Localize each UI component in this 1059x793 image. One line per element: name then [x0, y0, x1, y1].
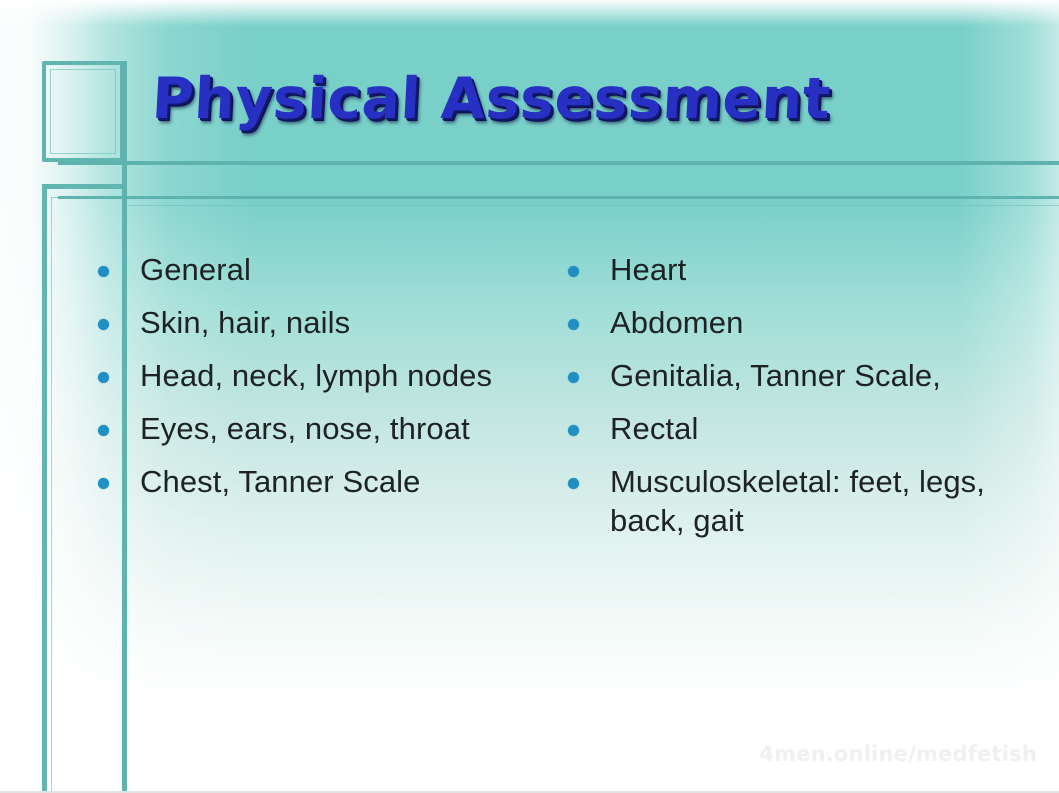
bullet-dot-icon	[98, 372, 109, 383]
list-item: Abdomen	[562, 303, 1032, 342]
slide-title: Physical Assessment	[150, 66, 832, 132]
bullet-dot-icon	[568, 425, 579, 436]
decorative-rule-lower	[58, 196, 1059, 199]
decorative-square-box-inner	[50, 69, 116, 154]
bullet-column-right: Heart Abdomen Genitalia, Tanner Scale, R…	[562, 250, 1032, 554]
list-item-label: Rectal	[610, 409, 1032, 448]
list-item-label: General	[140, 250, 522, 289]
bullet-dot-icon	[98, 478, 109, 489]
decorative-rule-lower-thin	[128, 205, 1059, 206]
decorative-rule-upper	[58, 161, 1059, 165]
bullet-dot-icon	[98, 266, 109, 277]
list-item-label: Abdomen	[610, 303, 1032, 342]
bullet-column-left: General Skin, hair, nails Head, neck, ly…	[92, 250, 522, 515]
list-item: Head, neck, lymph nodes	[92, 356, 522, 395]
list-item: Chest, Tanner Scale	[92, 462, 522, 501]
decorative-left-rail-cap	[42, 184, 126, 189]
bullet-dot-icon	[568, 319, 579, 330]
list-item-label: Genitalia, Tanner Scale,	[610, 356, 1032, 395]
list-item: Skin, hair, nails	[92, 303, 522, 342]
list-item-label: Head, neck, lymph nodes	[140, 356, 522, 395]
bullet-dot-icon	[98, 425, 109, 436]
list-item: General	[92, 250, 522, 289]
bullet-dot-icon	[568, 266, 579, 277]
list-item: Musculoskeletal: feet, legs, back, gait	[562, 462, 1032, 540]
list-item-label: Musculoskeletal: feet, legs, back, gait	[610, 462, 1032, 540]
list-item: Genitalia, Tanner Scale,	[562, 356, 1032, 395]
list-item: Heart	[562, 250, 1032, 289]
list-item: Eyes, ears, nose, throat	[92, 409, 522, 448]
bullet-dot-icon	[568, 478, 579, 489]
decorative-left-rail-inner	[51, 197, 52, 793]
list-item-label: Eyes, ears, nose, throat	[140, 409, 522, 448]
list-item-label: Heart	[610, 250, 1032, 289]
decorative-left-rail	[42, 184, 47, 793]
list-item-label: Skin, hair, nails	[140, 303, 522, 342]
list-item: Rectal	[562, 409, 1032, 448]
slide-canvas: Physical Assessment General Skin, hair, …	[0, 0, 1059, 793]
watermark: 4men.online/medfetish	[759, 742, 1037, 766]
bullet-dot-icon	[98, 319, 109, 330]
list-item-label: Chest, Tanner Scale	[140, 462, 522, 501]
background-top-fade	[0, 0, 1059, 26]
bullet-dot-icon	[568, 372, 579, 383]
